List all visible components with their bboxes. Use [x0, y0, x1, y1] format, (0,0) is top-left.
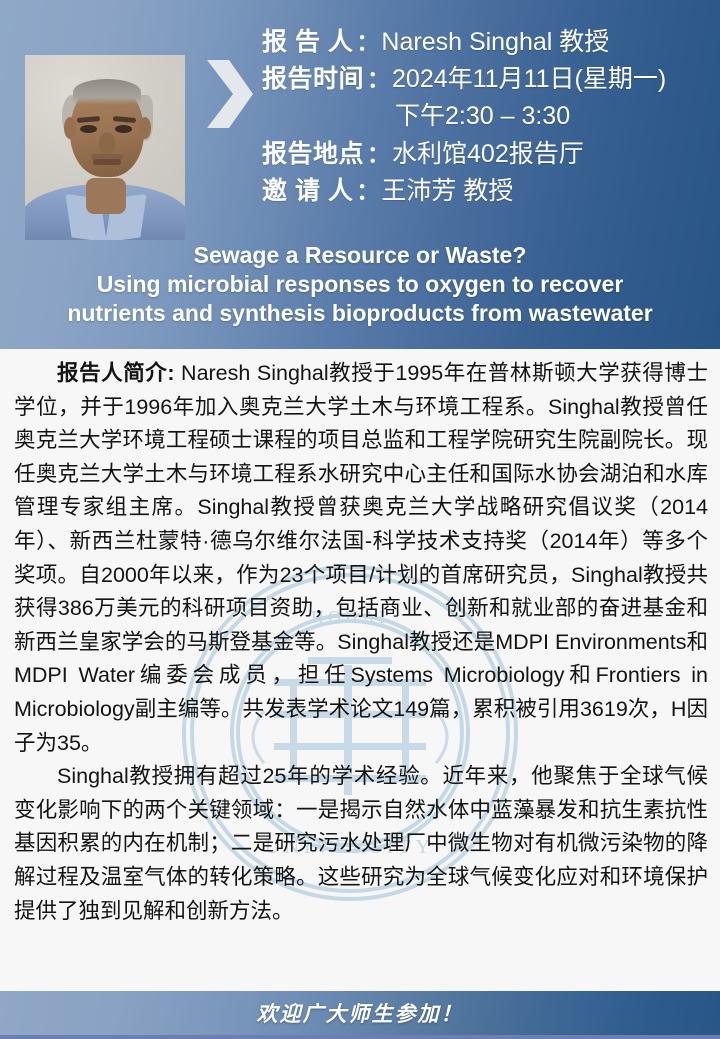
- inviter-colon: ：: [353, 172, 381, 206]
- bio-paragraph-2: Singhal教授拥有超过25年的学术经验。近年来，他聚焦于全球气候变化影响下的…: [14, 760, 708, 928]
- venue-label: 报告地点: [262, 134, 364, 170]
- meta-row-datetime: 报告时间 ： 2024年11月11日(星期一): [262, 59, 718, 95]
- speaker-photo: [25, 55, 185, 240]
- inviter-label: 邀 请 人: [262, 171, 353, 207]
- portrait-neck: [86, 178, 126, 214]
- bio-paragraph-1-body: Naresh Singhal教授于1995年在普林斯顿大学获得博士学位，并于19…: [14, 361, 708, 755]
- seminar-poster: 报 告 人 ： Naresh Singhal 教授 报告时间 ： 2024年11…: [0, 0, 720, 1039]
- meta-row-datetime-second-line: 下午2:30 – 3:30: [262, 96, 718, 132]
- portrait-mouth: [93, 159, 121, 165]
- datetime-value: 2024年11月11日(星期一): [392, 59, 666, 95]
- portrait-nose: [99, 133, 115, 155]
- bio-text: 报告人简介: Naresh Singhal教授于1995年在普林斯顿大学获得博士…: [14, 357, 708, 928]
- bio-lead-label: 报告人简介:: [57, 361, 175, 385]
- talk-title-line-2: Using microbial responses to oxygen to r…: [6, 270, 714, 299]
- portrait-ear-left: [64, 117, 76, 139]
- meta-row-inviter: 邀 请 人 ： 王沛芳 教授: [262, 171, 718, 207]
- venue-colon: ：: [364, 135, 392, 169]
- speaker-label: 报 告 人: [262, 22, 353, 58]
- poster-footer: 欢迎广大师生参加！: [0, 991, 720, 1039]
- portrait-hair-top: [73, 79, 141, 105]
- inviter-value: 王沛芳 教授: [381, 171, 513, 207]
- seminar-meta: 报 告 人 ： Naresh Singhal 教授 报告时间 ： 2024年11…: [262, 22, 718, 208]
- speaker-colon: ：: [353, 23, 381, 57]
- poster-header: 报 告 人 ： Naresh Singhal 教授 报告时间 ： 2024年11…: [0, 0, 720, 349]
- datetime-value-line2: 下午2:30 – 3:30: [395, 96, 570, 132]
- chevron-right-icon: [203, 58, 253, 133]
- venue-value: 水利馆402报告厅: [392, 134, 584, 170]
- datetime-label: 报告时间: [262, 59, 364, 95]
- datetime-colon: ：: [364, 60, 392, 94]
- talk-title: Sewage a Resource or Waste? Using microb…: [0, 241, 720, 328]
- speaker-bio-section: UNIVERSITY HOHAI 报告人简介: Naresh Singhal教授…: [0, 349, 720, 991]
- speaker-value: Naresh Singhal 教授: [381, 22, 609, 58]
- meta-row-speaker: 报 告 人 ： Naresh Singhal 教授: [262, 22, 718, 58]
- talk-title-line-1: Sewage a Resource or Waste?: [6, 241, 714, 270]
- footer-welcome-text: 欢迎广大师生参加！: [257, 998, 464, 1028]
- portrait-eye-right: [115, 125, 132, 133]
- bio-paragraph-1: 报告人简介: Naresh Singhal教授于1995年在普林斯顿大学获得博士…: [14, 357, 708, 760]
- portrait-eye-left: [80, 125, 97, 133]
- talk-title-line-3: nutrients and synthesis bioproducts from…: [6, 299, 714, 328]
- portrait-ear-right: [139, 117, 151, 139]
- meta-row-venue: 报告地点 ： 水利馆402报告厅: [262, 134, 718, 170]
